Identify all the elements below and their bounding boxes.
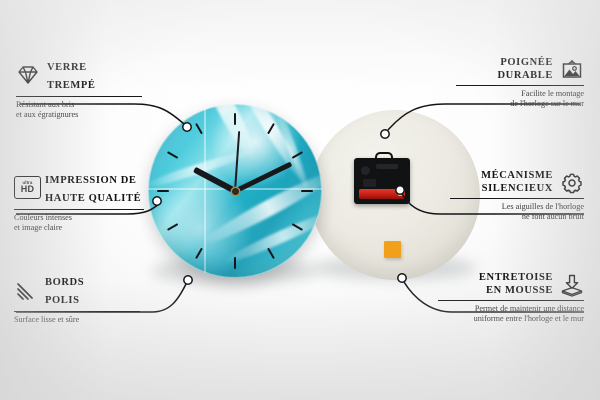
callout-title-line1: IMPRESSION DE xyxy=(45,175,137,186)
callout-sub-line1: Les aiguilles de l'horloge xyxy=(450,202,584,212)
callout-title-line1: VERRE xyxy=(47,62,87,73)
callout-title-line2: POLIS xyxy=(45,295,80,306)
callout-sub-line2: et aux égratignures xyxy=(16,110,142,120)
ultra-hd-icon: ultra HD xyxy=(14,176,38,200)
callout-title-line2: SILENCIEUX xyxy=(481,183,553,196)
callout-mecanisme-silencieux: MÉCANISME SILENCIEUX Les aiguilles de l'… xyxy=(450,170,584,223)
callout-sub-line1: Couleurs intenses xyxy=(14,213,144,223)
arrow-down-onto-pad-icon xyxy=(560,273,584,297)
callout-title-line1: POIGNÉE xyxy=(497,57,553,70)
callout-rule xyxy=(14,209,144,210)
connector-dot-bords-polis xyxy=(184,276,192,284)
callout-poignee-durable: POIGNÉE DURABLE Facilite le montage de l… xyxy=(456,57,584,110)
callout-sub-line2: et image claire xyxy=(14,223,144,233)
connector-dot-verre-trempe xyxy=(183,123,191,131)
callout-sub-line2: uniforme entre l'horloge et le mur xyxy=(438,314,584,324)
callout-rule xyxy=(14,311,140,312)
callout-sub-line2: ne font aucun bruit xyxy=(450,212,584,222)
callout-rule xyxy=(456,85,584,86)
callout-sub-line1: Résistant aux bris xyxy=(16,100,142,110)
callout-title-line2: DURABLE xyxy=(497,70,553,83)
ultra-hd-main-label: HD xyxy=(21,185,34,194)
callout-rule xyxy=(450,198,584,199)
callout-impression-haute-qualite: ultra HD IMPRESSION DE HAUTE QUALITÉ Cou… xyxy=(14,170,144,234)
connector-dot-mecanisme xyxy=(396,186,404,194)
gear-icon xyxy=(560,171,584,195)
callout-sub-line1: Facilite le montage xyxy=(456,89,584,99)
callout-title-line1: BORDS xyxy=(45,277,84,288)
callout-rule xyxy=(438,300,584,301)
callout-title-line2: HAUTE QUALITÉ xyxy=(45,193,141,204)
callout-sub-line2: de l'horloge sur le mur xyxy=(456,99,584,109)
diamond-icon xyxy=(16,63,40,87)
connector-dot-poignee xyxy=(381,130,389,138)
callout-bords-polis: BORDS POLIS Surface lisse et sûre xyxy=(14,272,140,325)
callout-sub-line1: Permet de maintenir une distance xyxy=(438,304,584,314)
picture-frame-hanger-icon xyxy=(560,58,584,82)
diagonal-lines-icon xyxy=(14,278,38,302)
callout-title-line2: TREMPÉ xyxy=(47,80,96,91)
callout-rule xyxy=(16,96,142,97)
connector-dot-impression xyxy=(153,197,161,205)
callout-verre-trempe: VERRE TREMPÉ Résistant aux bris et aux é… xyxy=(16,57,142,121)
callout-title-line1: MÉCANISME xyxy=(481,170,553,183)
callout-entretoise-en-mousse: ENTRETOISE EN MOUSSE Permet de maintenir… xyxy=(438,272,584,325)
callout-title-line2: EN MOUSSE xyxy=(479,285,553,298)
infographic-canvas: VERRE TREMPÉ Résistant aux bris et aux é… xyxy=(0,0,600,400)
callout-title-line1: ENTRETOISE xyxy=(479,272,553,285)
connector-dot-entretoise xyxy=(398,274,406,282)
callout-sub-line1: Surface lisse et sûre xyxy=(14,315,140,325)
